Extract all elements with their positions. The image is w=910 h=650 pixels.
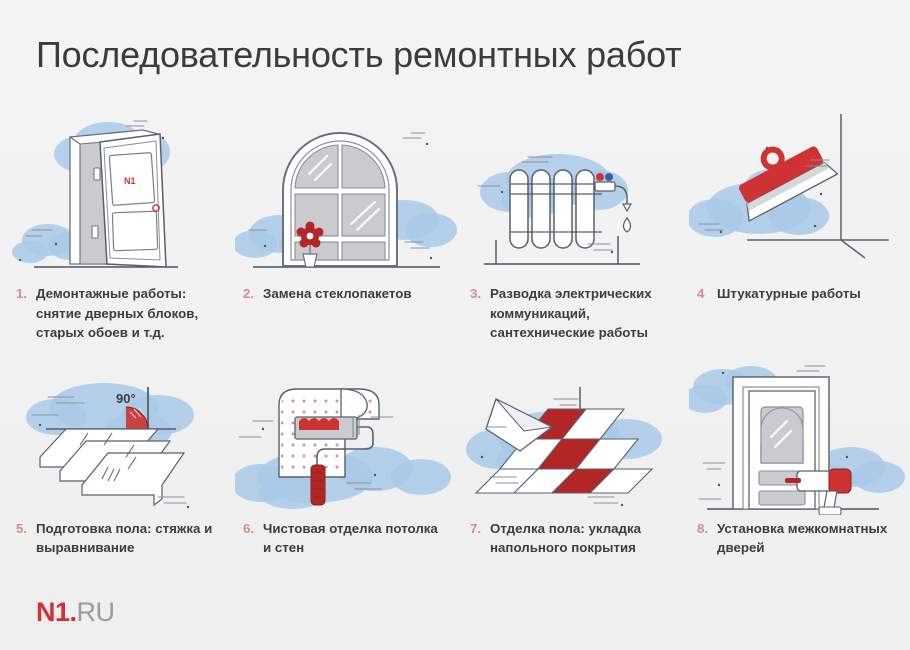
step-caption-7: 7. Отделка пола: укладка напольного покр…: [462, 519, 675, 558]
steps-row-second: 90°: [0, 365, 910, 558]
steps-grid: N1: [0, 112, 910, 558]
infographic-poster: Последовательность ремонтных работ: [0, 0, 910, 650]
step-item-1: N1: [0, 112, 227, 343]
roller-handle: [311, 465, 325, 505]
step-label-4: Штукатурные работы: [717, 286, 861, 301]
step-item-6: 6. Чистовая отделка потолка и стен: [227, 365, 454, 558]
door-badge-n1: N1: [124, 176, 136, 186]
illustration-paint-roller-tray: [235, 365, 448, 515]
step-label-8: Установка межкомнатных дверей: [717, 521, 887, 556]
step-number-8: 8.: [697, 519, 708, 539]
step-item-4: 4 Штукатурные работы: [681, 112, 908, 343]
step-number-3: 3.: [470, 284, 481, 304]
n1ru-logo[interactable]: N1.RU: [36, 599, 115, 626]
page-title: Последовательность ремонтных работ: [36, 33, 681, 77]
step-item-2: 2. Замена стеклопакетов: [227, 112, 454, 343]
step-caption-5: 5. Подготовка пола: стяжка и выравнивани…: [8, 519, 221, 558]
illustration-plaster-trowel: [689, 112, 902, 280]
step-number-6: 6.: [243, 519, 254, 539]
step-number-5: 5.: [16, 519, 27, 539]
roller-head: [295, 417, 357, 439]
step-item-7: 7. Отделка пола: укладка напольного покр…: [454, 365, 681, 558]
step-number-2: 2.: [243, 284, 254, 304]
water-drop: [624, 218, 631, 232]
step-number-1: 1.: [16, 284, 27, 304]
step-label-7: Отделка пола: укладка напольного покрыти…: [490, 521, 641, 556]
illustration-checker-tile-floor: [462, 365, 675, 515]
step-label-1: Демонтажные работы: снятие дверных блоко…: [36, 286, 198, 340]
step-caption-8: 8. Установка межкомнатных дверей: [689, 519, 902, 558]
step-label-2: Замена стеклопакетов: [263, 286, 412, 301]
step-caption-6: 6. Чистовая отделка потолка и стен: [235, 519, 448, 558]
illustration-door-removal: N1: [8, 112, 221, 280]
logo-tld: RU: [77, 597, 115, 627]
step-number-7: 7.: [470, 519, 481, 539]
angle-label-90: 90°: [116, 391, 136, 406]
step-caption-3: 3. Разводка электрических коммуникаций, …: [462, 284, 675, 343]
step-item-3: 3. Разводка электрических коммуникаций, …: [454, 112, 681, 343]
logo-brand: N1: [36, 597, 70, 627]
illustration-arched-window: [235, 112, 448, 280]
step-item-5: 90°: [0, 365, 227, 558]
step-item-8: 8. Установка межкомнатных дверей: [681, 365, 908, 558]
step-caption-1: 1. Демонтажные работы: снятие дверных бл…: [8, 284, 221, 343]
steps-row-first: N1: [0, 112, 910, 343]
step-label-5: Подготовка пола: стяжка и выравнивание: [36, 521, 212, 556]
step-label-3: Разводка электрических коммуникаций, сан…: [490, 286, 652, 340]
step-caption-4: 4 Штукатурные работы: [689, 284, 902, 304]
step-label-6: Чистовая отделка потолка и стен: [263, 521, 438, 556]
illustration-interior-door-drill: [689, 365, 902, 515]
door-leaf: N1: [100, 134, 166, 267]
step-number-4: 4: [697, 284, 704, 304]
illustration-floor-planks: 90°: [8, 365, 221, 515]
illustration-radiator-faucet: [462, 112, 675, 280]
logo-separator: .: [70, 597, 77, 627]
step-caption-2: 2. Замена стеклопакетов: [235, 284, 448, 304]
